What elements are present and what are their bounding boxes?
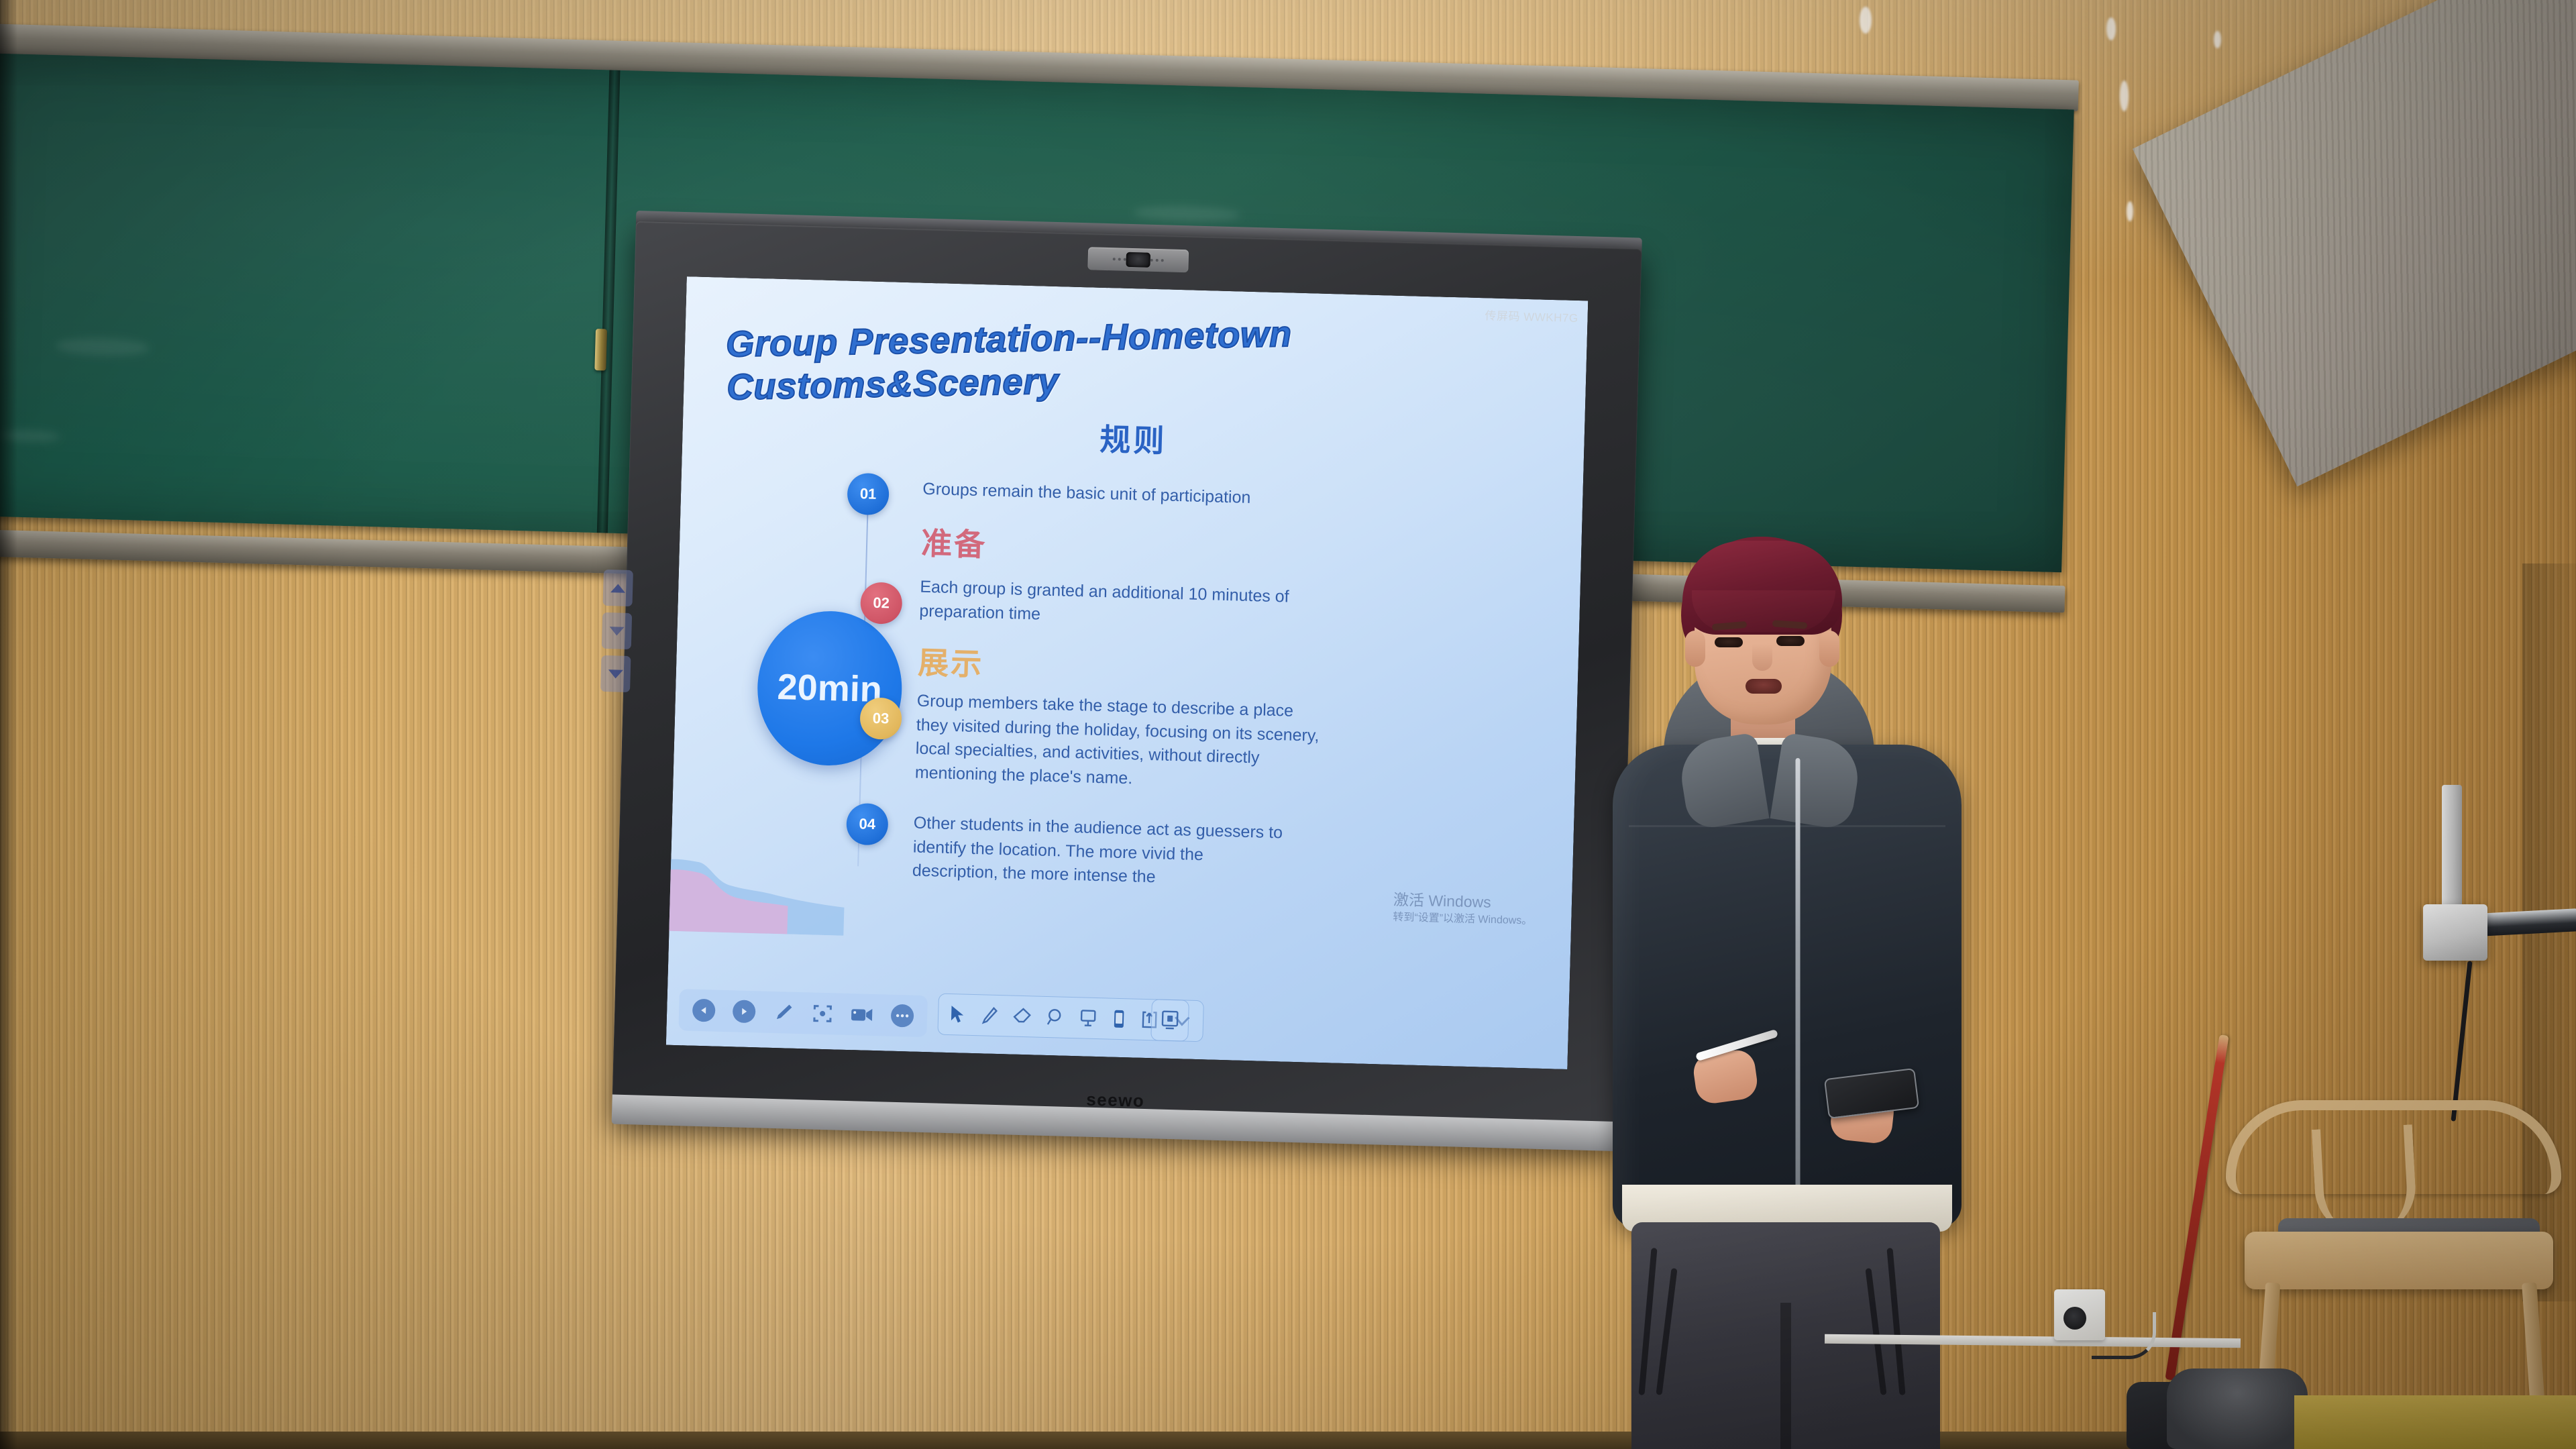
magnifier-icon[interactable]	[1046, 1007, 1065, 1028]
jacket-zipper	[1796, 758, 1801, 1221]
slide-subtitle: 规则	[1099, 415, 1168, 462]
mop	[2167, 1368, 2308, 1449]
slide-title: Group Presentation--Hometown Customs&Sce…	[726, 309, 1519, 409]
slide-toolbar-left[interactable]	[678, 989, 928, 1037]
chair-seat	[2245, 1232, 2553, 1289]
outlet-cable	[2092, 1312, 2156, 1359]
document-camera-head	[2423, 904, 2487, 961]
eye-left	[1715, 637, 1743, 647]
wall-glint	[1860, 7, 1872, 34]
chalk-smudge	[56, 337, 150, 357]
frame-edge-left	[0, 0, 17, 1449]
pen-icon[interactable]	[773, 1002, 795, 1024]
windows-activation-watermark: 激活 Windows 转到“设置”以激活 Windows。	[1393, 890, 1533, 928]
cast-code-label: 传屏码 WWKH7G	[1485, 306, 1578, 325]
camera-lens-icon	[1126, 252, 1150, 268]
eye-right	[1776, 636, 1805, 646]
interactive-flat-panel[interactable]: Group Presentation--Hometown Customs&Sce…	[612, 221, 1642, 1147]
chalk-smudge	[1133, 205, 1241, 223]
wall-glint	[2214, 31, 2221, 48]
timeline-node-04: 04	[846, 803, 889, 846]
ear-left	[1685, 631, 1705, 667]
panel-camera-module	[1087, 247, 1189, 272]
microphone-array	[1113, 258, 1126, 261]
rule-text-01: Groups remain the basic unit of particip…	[922, 478, 1339, 513]
microphone-array	[1150, 259, 1164, 262]
rule-heading-02: 准备	[920, 519, 1338, 575]
panel-screen[interactable]: Group Presentation--Hometown Customs&Sce…	[666, 276, 1589, 1069]
panel-side-buttons[interactable]	[600, 570, 633, 692]
video-camera-icon[interactable]	[851, 1006, 874, 1024]
outlet-socket	[2063, 1307, 2086, 1330]
pen-icon[interactable]	[980, 1005, 1000, 1026]
eraser-icon[interactable]	[1012, 1007, 1033, 1026]
mobile-icon[interactable]	[1112, 1009, 1127, 1030]
mouth	[1746, 679, 1782, 694]
side-button-menu[interactable]	[602, 612, 632, 649]
student-presenter	[1563, 537, 2033, 1449]
rule-text-02: Each group is granted an additional 10 m…	[919, 576, 1296, 633]
timer-badge: 20min	[755, 609, 904, 767]
focus-frame-icon[interactable]	[812, 1003, 834, 1025]
wall-glint	[2120, 80, 2129, 111]
presentation-slide[interactable]: Group Presentation--Hometown Customs&Sce…	[666, 276, 1589, 1069]
floor-mat	[2294, 1395, 2576, 1449]
blackboard-lock	[594, 329, 607, 370]
side-button-up[interactable]	[602, 570, 633, 606]
wall-glint	[2127, 201, 2133, 221]
timeline-node-01: 01	[847, 473, 890, 516]
rule-heading-03: 展示	[918, 639, 1335, 694]
timeline-node-03: 03	[859, 697, 902, 740]
spotlight-icon[interactable]	[1078, 1008, 1099, 1028]
rule-text-03: Group members take the stage to describe…	[914, 690, 1326, 796]
wall-glint	[2106, 17, 2116, 40]
more-options-icon[interactable]	[891, 1004, 914, 1028]
previous-slide-icon[interactable]	[692, 999, 716, 1022]
nose	[1752, 644, 1772, 671]
timeline-node-02: 02	[860, 582, 903, 625]
hair-front	[1682, 541, 1842, 635]
next-slide-icon[interactable]	[733, 1000, 756, 1023]
rule-text-04: Other students in the audience act as gu…	[912, 812, 1289, 894]
ear-right	[1819, 631, 1839, 667]
document-camera-post	[2442, 785, 2462, 912]
classroom-scene: Group Presentation--Hometown Customs&Sce…	[0, 0, 2576, 1449]
side-button-down[interactable]	[600, 655, 631, 692]
cursor-icon[interactable]	[949, 1004, 967, 1025]
end-show-button[interactable]	[1150, 999, 1189, 1041]
rules-timeline: 20min 01 02 03 04 Groups remain the basi…	[824, 460, 1562, 963]
